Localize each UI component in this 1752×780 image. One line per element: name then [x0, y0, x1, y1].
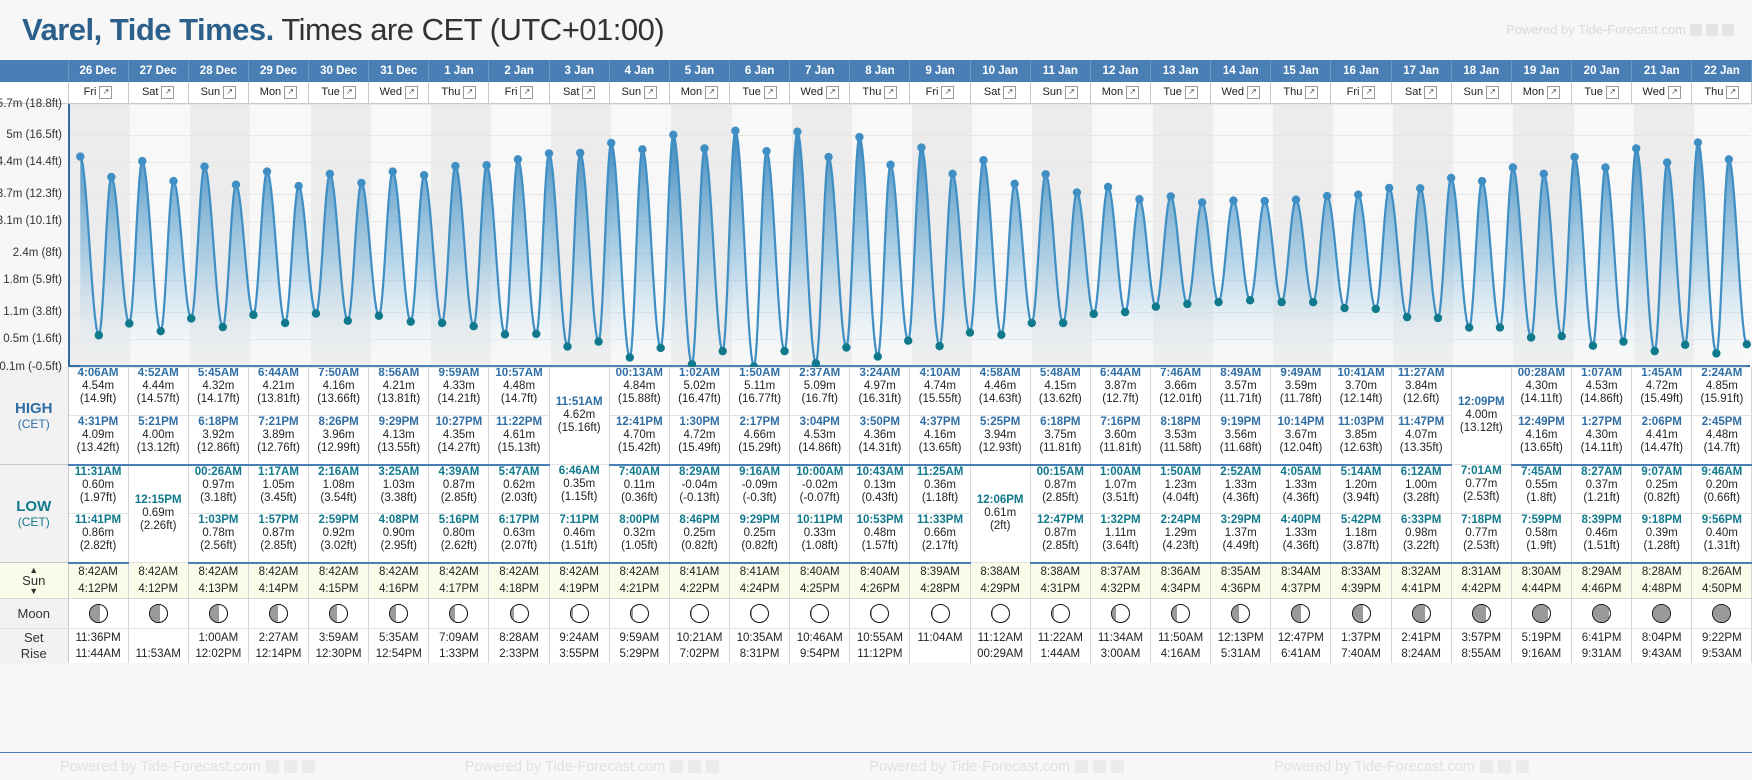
sun-times-cell: 8:33AM4:39PM	[1331, 563, 1391, 599]
tide-height-m: 3.94m	[971, 429, 1030, 442]
weekday-cell-fri: Fri↗	[910, 82, 970, 103]
high-tide-cell: 8:49AM3.57m(11.71ft)	[1211, 367, 1271, 416]
tide-height-m: 4.30m	[1512, 380, 1571, 393]
low-tide-point	[657, 343, 665, 351]
expand-day-icon[interactable]: ↗	[1185, 86, 1198, 99]
high-tide-point	[389, 167, 397, 175]
tide-height-ft: (11.68ft)	[1211, 442, 1270, 455]
moon-phase-icon	[1291, 604, 1310, 623]
tide-height-ft: (2.53ft)	[1452, 540, 1511, 553]
weekday-text: Sun	[622, 86, 642, 98]
moon-phase-cell	[248, 599, 308, 629]
sun-label: ▲ Sun ▼	[0, 563, 68, 599]
tide-height-ft: (14.21ft)	[429, 393, 488, 406]
moonset-time: 11:50AM	[1151, 630, 1210, 646]
tide-height-m: 3.60m	[1091, 429, 1150, 442]
tide-height-ft: (15.55ft)	[910, 393, 969, 406]
expand-day-icon[interactable]: ↗	[463, 86, 476, 99]
low-tide-point	[219, 322, 227, 330]
moon-shadow	[1713, 605, 1730, 622]
tide-height-m: 4.41m	[1632, 429, 1691, 442]
expand-day-icon[interactable]: ↗	[644, 86, 657, 99]
low-tide-cell: 2:52AM1.33m(4.36ft)	[1211, 465, 1271, 514]
high-tide-point	[138, 156, 146, 164]
expand-day-icon[interactable]: ↗	[1486, 86, 1499, 99]
high-tide-point	[200, 162, 208, 170]
tide-time: 11:22PM	[489, 416, 548, 429]
low-tide-cell: 4:05AM1.33m(4.36ft)	[1271, 465, 1331, 514]
tide-height-ft: (13.81ft)	[249, 393, 308, 406]
high-tide-cell: 6:18PM3.92m(12.86ft)	[188, 416, 248, 465]
sunrise-time: 8:33AM	[1331, 564, 1390, 581]
low-tide-cell: 8:29AM-0.04m(-0.13ft)	[669, 465, 729, 514]
weekday-cell-sat: Sat↗	[970, 82, 1030, 103]
sunset-time: 4:12PM	[129, 581, 188, 598]
tide-time: 10:11PM	[790, 514, 849, 527]
moon-shadow	[150, 605, 160, 622]
tide-time: 10:14PM	[1271, 416, 1330, 429]
expand-day-icon[interactable]: ↗	[1362, 86, 1375, 99]
high-tide-point	[232, 180, 240, 188]
tide-time: 4:39AM	[429, 466, 488, 479]
expand-day-icon[interactable]: ↗	[1126, 86, 1139, 99]
tide-time: 9:29PM	[730, 514, 789, 527]
sun-times-cell: 8:39AM4:28PM	[910, 563, 970, 599]
sunrise-time: 8:41AM	[730, 564, 789, 581]
tide-time: 1:00AM	[1091, 466, 1150, 479]
moonrise-time: 7:40AM	[1331, 646, 1390, 662]
tide-time: 10:41AM	[1331, 367, 1390, 380]
moonrise-time: 9:16AM	[1512, 646, 1571, 662]
date-header-4-jan[interactable]: 4 Jan	[609, 60, 669, 82]
moon-setrise-cell: 11:04AM	[910, 629, 970, 663]
tide-height-m: 0.46m	[550, 527, 609, 540]
tide-height-m: 1.23m	[1151, 479, 1210, 492]
high-tide-cell: 4:52AM4.44m(14.57ft)	[128, 367, 188, 416]
expand-day-icon[interactable]: ↗	[405, 86, 418, 99]
low-tide-point	[594, 337, 602, 345]
moon-phase-icon	[630, 604, 649, 623]
tide-height-m: 0.11m	[610, 479, 669, 492]
high-tide-point	[514, 155, 522, 163]
date-header-29-dec[interactable]: 29 Dec	[248, 60, 308, 82]
tide-height-m: 4.62m	[550, 409, 609, 422]
high-tide-point	[948, 169, 956, 177]
tide-height-m: 0.86m	[69, 527, 128, 540]
tide-height-ft: (3.51ft)	[1091, 492, 1150, 505]
moon-phase-cell	[68, 599, 128, 629]
expand-day-icon[interactable]: ↗	[520, 86, 533, 99]
sun-times-cell: 8:38AM4:31PM	[1030, 563, 1090, 599]
tide-height-m: 5.09m	[790, 380, 849, 393]
high-tide-cell: 3:04PM4.53m(14.86ft)	[790, 416, 850, 465]
sun-times-cell: 8:42AM4:19PM	[549, 563, 609, 599]
tide-height-ft: (2.17ft)	[910, 540, 969, 553]
expand-day-icon[interactable]: ↗	[1606, 86, 1619, 99]
moonset-time: 10:35AM	[730, 630, 789, 646]
high-tide-point	[1447, 173, 1455, 181]
tide-height-ft: (13.65ft)	[910, 442, 969, 455]
low-tide-cell: 12:15PM0.69m(2.26ft)	[128, 465, 188, 563]
low-tide-cell: 7:45AM0.55m(1.8ft)	[1511, 465, 1571, 514]
high-tide-cell: 10:41AM3.70m(12.14ft)	[1331, 367, 1391, 416]
date-header-1-jan[interactable]: 1 Jan	[429, 60, 489, 82]
tide-height-m: 3.87m	[1091, 380, 1150, 393]
date-header-31-dec[interactable]: 31 Dec	[369, 60, 429, 82]
sunset-time: 4:39PM	[1331, 581, 1390, 598]
expand-day-icon[interactable]: ↗	[1668, 86, 1681, 99]
tide-time: 4:40PM	[1271, 514, 1330, 527]
date-header-22-jan[interactable]: 22 Jan	[1692, 60, 1752, 82]
sunrise-time: 8:42AM	[129, 564, 188, 581]
date-header-2-jan[interactable]: 2 Jan	[489, 60, 549, 82]
high-tide-cell: 7:50AM4.16m(13.66ft)	[309, 367, 369, 416]
tide-time: 10:27PM	[429, 416, 488, 429]
moon-rise-label: Rise	[0, 646, 68, 662]
tide-height-m: 0.20m	[1692, 479, 1751, 492]
expand-day-icon[interactable]: ↗	[764, 86, 777, 99]
date-header-12-jan[interactable]: 12 Jan	[1090, 60, 1150, 82]
sunset-time: 4:16PM	[369, 581, 428, 598]
tide-time: 5:14AM	[1331, 466, 1390, 479]
high-tide-cell: 5:25PM3.94m(12.93ft)	[970, 416, 1030, 465]
low-tide-cell: 11:33PM0.66m(2.17ft)	[910, 514, 970, 563]
moonset-time: 11:12AM	[971, 630, 1030, 646]
tide-height-ft: (12.01ft)	[1151, 393, 1210, 406]
moon-set-label: Set	[0, 630, 68, 646]
sunset-time: 4:22PM	[670, 581, 729, 598]
date-header-14-jan[interactable]: 14 Jan	[1211, 60, 1271, 82]
moon-phase-icon	[269, 604, 288, 623]
tide-height-m: 1.20m	[1331, 479, 1390, 492]
tide-height-m: 4.44m	[129, 380, 188, 393]
low-tide-point	[1496, 323, 1504, 331]
moonrise-time: 1:44AM	[1031, 646, 1090, 662]
sunset-arrow-icon: ▼	[0, 587, 68, 596]
tide-time: 1:30PM	[670, 416, 729, 429]
tide-height-m: 4.13m	[369, 429, 428, 442]
moon-phase-icon	[1412, 604, 1431, 623]
low-tide-cell: 4:39AM0.87m(2.85ft)	[429, 465, 489, 514]
tide-time: 6:18PM	[1031, 416, 1090, 429]
date-header-15-jan[interactable]: 15 Jan	[1271, 60, 1331, 82]
high-tide-point	[1601, 163, 1609, 171]
weekday-cell-wed: Wed↗	[1632, 82, 1692, 103]
tide-height-ft: (11.81ft)	[1031, 442, 1090, 455]
date-header-19-jan[interactable]: 19 Jan	[1511, 60, 1571, 82]
tide-time: 12:41PM	[610, 416, 669, 429]
tide-height-m: 1.00m	[1392, 479, 1451, 492]
date-header-7-jan[interactable]: 7 Jan	[790, 60, 850, 82]
footer-watermark-icon-2	[284, 760, 297, 773]
weekday-text: Sat	[984, 86, 1001, 98]
moonrise-time: 5:29PM	[610, 646, 669, 662]
moon-shadow	[571, 605, 573, 622]
moon-shadow	[992, 605, 994, 622]
tide-height-ft: (14.17ft)	[189, 393, 248, 406]
high-tide-cell: 2:17PM4.66m(15.29ft)	[730, 416, 790, 465]
tide-height-m: 3.66m	[1151, 380, 1210, 393]
expand-day-icon[interactable]: ↗	[1247, 86, 1260, 99]
high-tide-cell: 00:28AM4.30m(14.11ft)	[1511, 367, 1571, 416]
date-header-16-jan[interactable]: 16 Jan	[1331, 60, 1391, 82]
moonrise-time: 11:12PM	[850, 646, 909, 662]
moonset-time: 6:41PM	[1572, 630, 1631, 646]
tide-height-ft: (13.35ft)	[1392, 442, 1451, 455]
low-tide-point	[1059, 318, 1067, 326]
date-header-13-jan[interactable]: 13 Jan	[1151, 60, 1211, 82]
tide-height-m: 0.66m	[910, 527, 969, 540]
expand-day-icon[interactable]: ↗	[99, 86, 112, 99]
moon-shadow	[210, 605, 219, 622]
expand-day-icon[interactable]: ↗	[223, 86, 236, 99]
high-tide-point	[1725, 155, 1733, 163]
y-axis-tick: 2.4m (8ft)	[13, 247, 62, 259]
low-tide-cell: 9:18PM0.39m(1.28ft)	[1632, 514, 1692, 563]
low-tide-point	[935, 341, 943, 349]
tide-height-ft: (13.81ft)	[369, 393, 428, 406]
moonrise-time: 12:30PM	[309, 646, 368, 662]
tide-height-ft: (-0.07ft)	[790, 492, 849, 505]
moonset-time: 3:57PM	[1452, 630, 1511, 646]
tide-height-m: 0.36m	[910, 479, 969, 492]
powered-by-label: Powered by Tide-Forecast.com	[1506, 22, 1686, 37]
high-tide-cell: 11:03PM3.85m(12.63ft)	[1331, 416, 1391, 465]
moonrise-time: 12:02PM	[189, 646, 248, 662]
high-tide-point	[1416, 184, 1424, 192]
sunrise-time: 8:30AM	[1512, 564, 1571, 581]
tide-time: 8:56AM	[369, 367, 428, 380]
tide-time: 12:47PM	[1031, 514, 1090, 527]
low-tide-point	[157, 326, 165, 334]
low-tide-cell: 00:15AM0.87m(2.85ft)	[1030, 465, 1090, 514]
expand-day-icon[interactable]: ↗	[161, 86, 174, 99]
footer-watermark-icon-1	[670, 760, 683, 773]
sunrise-time: 8:40AM	[850, 564, 909, 581]
tide-height-m: 0.98m	[1392, 527, 1451, 540]
low-tide-cell: 2:16AM1.08m(3.54ft)	[309, 465, 369, 514]
expand-day-icon[interactable]: ↗	[1065, 86, 1078, 99]
weekday-text: Wed	[1643, 86, 1665, 98]
tide-height-m: 4.48m	[1692, 429, 1751, 442]
sun-times-cell: 8:26AM4:50PM	[1692, 563, 1752, 599]
date-header-6-jan[interactable]: 6 Jan	[730, 60, 790, 82]
date-header-5-jan[interactable]: 5 Jan	[669, 60, 729, 82]
moon-shadow	[390, 605, 395, 622]
sunset-time: 4:34PM	[1151, 581, 1210, 598]
tide-height-ft: (3.87ft)	[1331, 540, 1390, 553]
moonrise-time: 9:53AM	[1692, 646, 1751, 662]
low-tide-cell: 5:14AM1.20m(3.94ft)	[1331, 465, 1391, 514]
sunset-time: 4:44PM	[1512, 581, 1571, 598]
moon-setrise-cell: 10:46AM9:54PM	[790, 629, 850, 663]
high-tide-cell: 9:49AM3.59m(11.78ft)	[1271, 367, 1331, 416]
low-tide-point	[407, 317, 415, 325]
high-tide-point	[1041, 170, 1049, 178]
high-tide-point	[1354, 190, 1362, 198]
tide-height-m: 0.90m	[369, 527, 428, 540]
tide-time: 7:01AM	[1452, 465, 1511, 478]
moonrise-time: 11:53AM	[129, 646, 188, 662]
tide-height-ft: (1.18ft)	[910, 492, 969, 505]
sunset-time: 4:21PM	[610, 581, 669, 598]
tide-height-ft: (13.42ft)	[69, 442, 128, 455]
high-tide-label: HIGH (CET)	[0, 367, 68, 465]
tide-time: 11:31AM	[69, 466, 128, 479]
high-tide-cell: 10:14PM3.67m(12.04ft)	[1271, 416, 1331, 465]
expand-day-icon[interactable]: ↗	[582, 86, 595, 99]
moon-phase-cell	[1030, 599, 1090, 629]
expand-day-icon[interactable]: ↗	[1305, 86, 1318, 99]
tide-time: 1:50AM	[730, 367, 789, 380]
sunrise-time: 8:42AM	[610, 564, 669, 581]
low-tide-point	[718, 346, 726, 354]
sunrise-time: 8:39AM	[910, 564, 969, 581]
weekday-text: Wed	[1222, 86, 1244, 98]
tide-time: 6:17PM	[489, 514, 548, 527]
weekday-cell-fri: Fri↗	[68, 82, 128, 103]
expand-day-icon[interactable]: ↗	[343, 86, 356, 99]
tide-time: 10:53PM	[850, 514, 909, 527]
powered-by-watermark-top: Powered by Tide-Forecast.com	[1506, 22, 1734, 37]
weekday-cell-sat: Sat↗	[128, 82, 188, 103]
sunset-time: 4:48PM	[1632, 581, 1691, 598]
tide-time: 4:06AM	[69, 367, 128, 380]
moon-phase-icon	[1231, 604, 1250, 623]
moonrise-time: 3:00AM	[1091, 646, 1150, 662]
date-header-21-jan[interactable]: 21 Jan	[1632, 60, 1692, 82]
high-tide-cell: 4:10AM4.74m(15.55ft)	[910, 367, 970, 416]
high-tide-cell: 9:59AM4.33m(14.21ft)	[429, 367, 489, 416]
tide-time: 2:59PM	[309, 514, 368, 527]
tide-height-m: 4.84m	[610, 380, 669, 393]
tide-height-ft: (1.51ft)	[550, 540, 609, 553]
tide-height-ft: (3.02ft)	[309, 540, 368, 553]
expand-day-icon[interactable]: ↗	[884, 86, 897, 99]
expand-day-icon[interactable]: ↗	[705, 86, 718, 99]
moon-phase-icon	[1712, 604, 1731, 623]
date-header-26-dec[interactable]: 26 Dec	[68, 60, 128, 82]
expand-day-icon[interactable]: ↗	[941, 86, 954, 99]
moon-phase-cell	[188, 599, 248, 629]
weekday-cell-wed: Wed↗	[1211, 82, 1271, 103]
low-tide-cell: 9:07AM0.25m(0.82ft)	[1632, 465, 1692, 514]
tide-time: 9:07AM	[1632, 466, 1691, 479]
high-tide-point	[1229, 196, 1237, 204]
location-title: Varel, Tide Times.	[22, 12, 274, 47]
weekday-text: Sun	[1464, 86, 1484, 98]
tide-height-ft: (14.86ft)	[1572, 393, 1631, 406]
weekday-cell-mon: Mon↗	[248, 82, 308, 103]
high-tide-point	[482, 161, 490, 169]
footer-watermark-icon-3	[706, 760, 719, 773]
tide-height-ft: (0.36ft)	[610, 492, 669, 505]
date-header-30-dec[interactable]: 30 Dec	[309, 60, 369, 82]
high-tide-cell: 2:06PM4.41m(14.47ft)	[1632, 416, 1692, 465]
moon-setrise-cell: 3:59AM12:30PM	[309, 629, 369, 663]
high-tide-cell: 7:46AM3.66m(12.01ft)	[1151, 367, 1211, 416]
tide-height-ft: (14.11ft)	[1512, 393, 1571, 406]
tide-height-m: 0.32m	[610, 527, 669, 540]
moon-setrise-cell: 8:04PM9:43AM	[1632, 629, 1692, 663]
moon-phase-icon	[1352, 604, 1371, 623]
sunset-time: 4:29PM	[971, 581, 1030, 598]
date-header-8-jan[interactable]: 8 Jan	[850, 60, 910, 82]
tide-height-ft: (12.14ft)	[1331, 393, 1390, 406]
low-tide-cell: 4:40PM1.33m(4.36ft)	[1271, 514, 1331, 563]
moonrise-time: 5:31AM	[1211, 646, 1270, 662]
moon-phase-icon	[1111, 604, 1130, 623]
date-header-20-jan[interactable]: 20 Jan	[1572, 60, 1632, 82]
tide-time: 1:03PM	[189, 514, 248, 527]
date-header-17-jan[interactable]: 17 Jan	[1391, 60, 1451, 82]
sun-times-cell: 8:42AM4:21PM	[609, 563, 669, 599]
high-tide-cell: 12:09PM4.00m(13.12ft)	[1451, 367, 1511, 465]
tide-height-m: 0.62m	[489, 479, 548, 492]
expand-day-icon[interactable]: ↗	[1424, 86, 1437, 99]
tide-time: 4:08PM	[369, 514, 428, 527]
high-tide-cell: 9:29PM4.13m(13.55ft)	[369, 416, 429, 465]
weekday-cell-wed: Wed↗	[790, 82, 850, 103]
tide-time: 1:02AM	[670, 367, 729, 380]
tide-height-ft: (2.07ft)	[489, 540, 548, 553]
tide-time: 11:27AM	[1392, 367, 1451, 380]
moon-setrise-cell: 7:09AM1:33PM	[429, 629, 489, 663]
date-header-28-dec[interactable]: 28 Dec	[188, 60, 248, 82]
tide-height-ft: (15.13ft)	[489, 442, 548, 455]
moon-setrise-cell: 11:34AM3:00AM	[1090, 629, 1150, 663]
weekday-text: Tue	[321, 86, 340, 98]
high-tide-cell: 10:57AM4.48m(14.7ft)	[489, 367, 549, 416]
tide-time: 00:15AM	[1031, 466, 1090, 479]
high-tide-point	[1292, 195, 1300, 203]
date-header-11-jan[interactable]: 11 Jan	[1030, 60, 1090, 82]
tide-time: 7:16PM	[1091, 416, 1150, 429]
expand-day-icon[interactable]: ↗	[826, 86, 839, 99]
date-header-27-dec[interactable]: 27 Dec	[128, 60, 188, 82]
tide-height-ft: (1.21ft)	[1572, 492, 1631, 505]
date-header-18-jan[interactable]: 18 Jan	[1451, 60, 1511, 82]
tide-height-ft: (14.7ft)	[1692, 442, 1751, 455]
tide-height-m: 0.25m	[1632, 479, 1691, 492]
tide-height-m: 0.40m	[1692, 527, 1751, 540]
date-header-10-jan[interactable]: 10 Jan	[970, 60, 1030, 82]
date-header-9-jan[interactable]: 9 Jan	[910, 60, 970, 82]
date-header-3-jan[interactable]: 3 Jan	[549, 60, 609, 82]
tide-curve	[70, 104, 1752, 367]
sunrise-time: 8:42AM	[249, 564, 308, 581]
tide-time: 4:10AM	[910, 367, 969, 380]
expand-day-icon[interactable]: ↗	[1547, 86, 1560, 99]
tide-height-ft: (1.28ft)	[1632, 540, 1691, 553]
low-tide-point	[1183, 299, 1191, 307]
tide-height-m: 4.30m	[1572, 429, 1631, 442]
y-axis-tick: 5m (16.5ft)	[6, 129, 62, 141]
sunset-time: 4:36PM	[1211, 581, 1270, 598]
y-axis-tick: -0.1m (-0.5ft)	[0, 361, 62, 373]
expand-day-icon[interactable]: ↗	[1003, 86, 1016, 99]
moonrise-time: 11:44AM	[69, 646, 128, 662]
tide-time: 7:46AM	[1151, 367, 1210, 380]
moon-phase-icon	[810, 604, 829, 623]
expand-day-icon[interactable]: ↗	[1726, 86, 1739, 99]
high-tide-cell: 3:50PM4.36m(14.31ft)	[850, 416, 910, 465]
moon-shadow	[1292, 605, 1301, 622]
tide-height-m: 4.72m	[1632, 380, 1691, 393]
tide-height-m: 4.61m	[489, 429, 548, 442]
expand-day-icon[interactable]: ↗	[284, 86, 297, 99]
weekday-cell-thu: Thu↗	[429, 82, 489, 103]
